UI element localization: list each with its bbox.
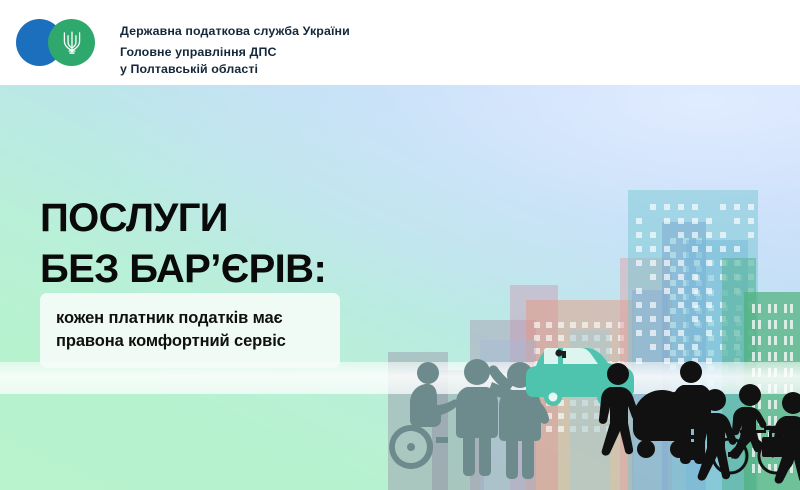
subtitle-text: кожен платник податків має правона комфо… bbox=[56, 307, 324, 352]
subtitle-box: кожен платник податків має правона комфо… bbox=[40, 293, 340, 368]
headline-line-1: ПОСЛУГИ bbox=[40, 193, 326, 244]
page-title: ПОСЛУГИ БЕЗ БАР’ЄРІВ: bbox=[40, 193, 326, 295]
poster-canvas: Державна податкова служба України Головн… bbox=[0, 0, 800, 490]
trident-emblem-icon bbox=[61, 30, 83, 55]
org-line-3: у Полтавській області bbox=[120, 61, 350, 78]
wheelchair-user-icon bbox=[389, 362, 458, 469]
org-line-1: Державна податкова служба України bbox=[120, 23, 350, 39]
org-line-2: Головне управління ДПС bbox=[120, 44, 350, 61]
headline-line-2: БЕЗ БАР’ЄРІВ: bbox=[40, 244, 326, 295]
organization-name: Державна податкова служба України Головн… bbox=[120, 23, 350, 77]
hero-banner: ПОСЛУГИ БЕЗ БАР’ЄРІВ: кожен платник пода… bbox=[0, 85, 800, 490]
logo[interactable] bbox=[16, 19, 116, 66]
site-header: Державна податкова служба України Головн… bbox=[0, 0, 800, 85]
